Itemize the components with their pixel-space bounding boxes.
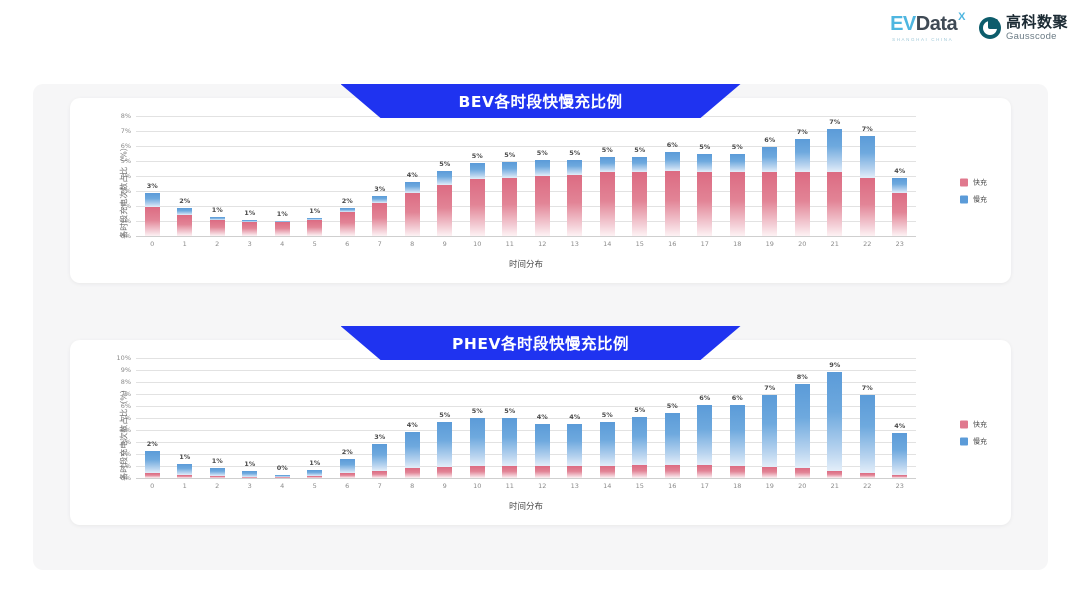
bar-segment-slow-charge — [372, 196, 387, 204]
bar-value-label: 6% — [732, 394, 743, 402]
bar-value-label: 4% — [407, 171, 418, 179]
bar-segment-fast-charge — [437, 467, 452, 478]
bar-segment-slow-charge — [795, 139, 810, 172]
bar-column[interactable]: 5% — [429, 358, 462, 478]
bar-stack — [860, 358, 875, 478]
bar-stack — [372, 116, 387, 236]
legend-swatch-icon — [960, 178, 968, 186]
x-axis-tick: 18 — [721, 240, 754, 248]
bar-segment-slow-charge — [892, 433, 907, 475]
bar-column[interactable]: 4% — [526, 358, 559, 478]
bar-value-label: 6% — [667, 141, 678, 149]
legend-label: 慢充 — [973, 194, 987, 204]
bar-column[interactable]: 6% — [656, 116, 689, 236]
chart-card-phev: 各时段充电次数占比（%） 0%1%2%3%4%5%6%7%8%9%10% 2%1… — [70, 340, 1011, 525]
bar-segment-slow-charge — [860, 136, 875, 178]
bar-segment-fast-charge — [632, 172, 647, 237]
bar-value-label: 9% — [829, 361, 840, 369]
bar-value-label: 5% — [504, 407, 515, 415]
bar-segment-fast-charge — [600, 466, 615, 478]
bar-value-label: 2% — [147, 440, 158, 448]
bar-segment-slow-charge — [600, 157, 615, 172]
bar-segment-slow-charge — [405, 182, 420, 193]
bar-value-label: 1% — [179, 453, 190, 461]
bar-column[interactable]: 7% — [754, 358, 787, 478]
bar-column[interactable]: 4% — [396, 116, 429, 236]
bar-stack — [177, 116, 192, 236]
bar-column[interactable]: 1% — [201, 116, 234, 236]
x-axis-tick: 4 — [266, 482, 299, 490]
bar-stack — [275, 116, 290, 236]
x-axis-tick: 21 — [819, 482, 852, 490]
x-axis-tick: 20 — [786, 240, 819, 248]
bar-segment-fast-charge — [502, 466, 517, 478]
bar-segment-slow-charge — [145, 451, 160, 473]
bar-column[interactable]: 6% — [721, 358, 754, 478]
bar-value-label: 8% — [797, 373, 808, 381]
bar-stack — [827, 116, 842, 236]
bar-group-phev: 2%1%1%1%0%1%2%3%4%5%5%5%4%4%5%5%5%6%6%7%… — [136, 358, 916, 478]
bar-stack — [145, 358, 160, 478]
bar-value-label: 4% — [537, 413, 548, 421]
bar-stack — [145, 116, 160, 236]
bar-value-label: 5% — [732, 143, 743, 151]
bar-stack — [470, 116, 485, 236]
bar-stack — [242, 116, 257, 236]
bar-column[interactable]: 6% — [689, 358, 722, 478]
bar-group-bev: 3%2%1%1%1%1%2%3%4%5%5%5%5%5%5%5%6%5%5%6%… — [136, 116, 916, 236]
bar-segment-slow-charge — [145, 193, 160, 207]
bar-value-label: 5% — [667, 402, 678, 410]
bar-segment-slow-charge — [892, 178, 907, 194]
gausscode-chinese-name: 高科数聚 — [1006, 15, 1068, 30]
x-axis-tick: 21 — [819, 240, 852, 248]
legend-item[interactable]: 快充 — [960, 419, 987, 429]
bar-value-label: 0% — [277, 464, 288, 472]
bar-column[interactable]: 7% — [819, 116, 852, 236]
y-axis-tick: 8% — [121, 378, 131, 386]
legend-label: 快充 — [973, 177, 987, 187]
bar-segment-fast-charge — [632, 465, 647, 478]
bar-column[interactable]: 0% — [266, 358, 299, 478]
chart-block-phev: PHEV各时段快慢充比例 各时段充电次数占比（%） 0%1%2%3%4%5%6%… — [33, 326, 1048, 360]
legend-item[interactable]: 慢充 — [960, 194, 987, 204]
x-axis-tick: 15 — [624, 240, 657, 248]
bar-value-label: 3% — [374, 433, 385, 441]
bar-segment-fast-charge — [762, 172, 777, 237]
x-axis-tick: 22 — [851, 482, 884, 490]
bar-column[interactable]: 4% — [884, 116, 917, 236]
bar-column[interactable]: 1% — [234, 116, 267, 236]
bar-segment-fast-charge — [762, 467, 777, 478]
bar-value-label: 7% — [764, 384, 775, 392]
y-axis-tick: 7% — [121, 127, 131, 135]
bar-column[interactable]: 3% — [364, 358, 397, 478]
bar-segment-slow-charge — [535, 160, 550, 176]
chart-block-bev: BEV各时段快慢充比例 各时段充电次数占比（%） 0%1%2%3%4%5%6%7… — [33, 84, 1048, 118]
gausscode-english-name: Gausscode — [1006, 32, 1068, 42]
x-axis-tick: 6 — [331, 482, 364, 490]
bar-value-label: 2% — [179, 197, 190, 205]
bar-segment-fast-charge — [340, 212, 355, 236]
bar-segment-slow-charge — [470, 418, 485, 466]
y-axis-tick: 8% — [121, 112, 131, 120]
x-axis-tick: 13 — [559, 482, 592, 490]
bar-stack — [892, 358, 907, 478]
bar-column[interactable]: 4% — [559, 358, 592, 478]
bar-column[interactable]: 7% — [786, 116, 819, 236]
bar-value-label: 4% — [569, 413, 580, 421]
bar-column[interactable]: 5% — [494, 358, 527, 478]
y-axis-tick: 6% — [121, 142, 131, 150]
bar-segment-fast-charge — [177, 215, 192, 236]
x-axis-tick: 10 — [461, 240, 494, 248]
x-axis-tick: 1 — [169, 240, 202, 248]
bar-value-label: 7% — [797, 128, 808, 136]
bar-segment-fast-charge — [827, 471, 842, 478]
bar-segment-slow-charge — [502, 162, 517, 179]
bar-value-label: 5% — [472, 407, 483, 415]
bar-stack — [697, 358, 712, 478]
bar-segment-fast-charge — [860, 178, 875, 237]
gausscode-wordmark: 高科数聚 Gausscode — [1006, 15, 1068, 42]
bar-segment-slow-charge — [632, 157, 647, 172]
evdata-logo-ev-text: EV — [890, 14, 916, 34]
bar-segment-slow-charge — [437, 171, 452, 185]
bar-column[interactable]: 9% — [819, 358, 852, 478]
bar-stack — [827, 358, 842, 478]
bar-stack — [502, 358, 517, 478]
bar-column[interactable]: 1% — [266, 116, 299, 236]
bar-stack — [567, 116, 582, 236]
bar-stack — [665, 116, 680, 236]
bar-segment-fast-charge — [535, 466, 550, 478]
x-axis-tick: 16 — [656, 240, 689, 248]
y-axis-tick: 4% — [121, 426, 131, 434]
x-axis-tick: 18 — [721, 482, 754, 490]
x-axis-tick: 7 — [364, 482, 397, 490]
bar-segment-slow-charge — [502, 418, 517, 466]
bar-stack — [632, 116, 647, 236]
bar-value-label: 5% — [634, 146, 645, 154]
x-axis-tick: 17 — [689, 482, 722, 490]
bar-column[interactable]: 1% — [169, 358, 202, 478]
bar-column[interactable]: 2% — [136, 358, 169, 478]
bar-segment-fast-charge — [275, 477, 290, 478]
bar-segment-slow-charge — [697, 405, 712, 465]
x-axis-tick: 14 — [591, 482, 624, 490]
bar-column[interactable]: 5% — [689, 116, 722, 236]
bar-column[interactable]: 5% — [461, 116, 494, 236]
bar-segment-slow-charge — [632, 417, 647, 465]
bar-column[interactable]: 2% — [331, 116, 364, 236]
evdata-logo-wordmark: EVDataX — [890, 14, 965, 34]
bar-stack — [762, 358, 777, 478]
bar-segment-fast-charge — [470, 179, 485, 236]
bar-stack — [632, 358, 647, 478]
bar-column[interactable]: 4% — [884, 358, 917, 478]
bar-segment-fast-charge — [892, 193, 907, 236]
x-axis-tick: 17 — [689, 240, 722, 248]
bar-column[interactable]: 1% — [299, 116, 332, 236]
bar-segment-fast-charge — [242, 477, 257, 478]
bar-column[interactable]: 5% — [559, 116, 592, 236]
bar-column[interactable]: 5% — [526, 116, 559, 236]
y-axis-tick: 3% — [121, 187, 131, 195]
x-axis-tick: 9 — [429, 240, 462, 248]
x-axis-tick: 14 — [591, 240, 624, 248]
bar-column[interactable]: 5% — [656, 358, 689, 478]
bar-segment-fast-charge — [697, 172, 712, 237]
x-axis-tick: 19 — [754, 240, 787, 248]
bar-value-label: 2% — [342, 197, 353, 205]
bar-column[interactable]: 7% — [851, 116, 884, 236]
bar-segment-slow-charge — [730, 154, 745, 171]
bar-segment-fast-charge — [145, 473, 160, 478]
x-axis-tick: 2 — [201, 482, 234, 490]
x-axis-tick: 12 — [526, 482, 559, 490]
bar-value-label: 6% — [699, 394, 710, 402]
bar-value-label: 5% — [569, 149, 580, 157]
bar-segment-fast-charge — [307, 476, 322, 478]
bar-segment-fast-charge — [860, 473, 875, 478]
legend-label: 快充 — [973, 419, 987, 429]
bar-segment-fast-charge — [275, 222, 290, 236]
bar-value-label: 3% — [374, 185, 385, 193]
x-axis-tick: 4 — [266, 240, 299, 248]
bar-value-label: 5% — [602, 411, 613, 419]
bar-column[interactable]: 5% — [429, 116, 462, 236]
x-axis-tick: 2 — [201, 240, 234, 248]
bar-value-label: 1% — [212, 206, 223, 214]
evdata-logo: EVDataX shanghai china — [890, 14, 965, 42]
x-axis-ticks-bev: 01234567891011121314151617181920212223 — [136, 240, 916, 248]
y-axis-tick: 1% — [121, 217, 131, 225]
bar-segment-fast-charge — [405, 193, 420, 237]
bar-column[interactable]: 2% — [169, 116, 202, 236]
x-axis-tick: 16 — [656, 482, 689, 490]
bar-segment-fast-charge — [567, 466, 582, 478]
bar-segment-fast-charge — [697, 465, 712, 478]
bar-value-label: 5% — [602, 146, 613, 154]
bar-segment-fast-charge — [535, 176, 550, 236]
bar-segment-slow-charge — [827, 129, 842, 173]
bar-value-label: 4% — [407, 421, 418, 429]
bar-segment-slow-charge — [567, 424, 582, 466]
bar-segment-fast-charge — [600, 172, 615, 237]
bar-value-label: 5% — [537, 149, 548, 157]
bar-column[interactable]: 6% — [754, 116, 787, 236]
bar-value-label: 5% — [699, 143, 710, 151]
x-axis-tick: 23 — [884, 482, 917, 490]
bar-value-label: 7% — [829, 118, 840, 126]
bar-segment-fast-charge — [145, 207, 160, 236]
bar-column[interactable]: 1% — [299, 358, 332, 478]
x-axis-tick: 23 — [884, 240, 917, 248]
bar-value-label: 1% — [309, 459, 320, 467]
bar-value-label: 5% — [439, 411, 450, 419]
x-axis-tick: 20 — [786, 482, 819, 490]
x-axis-tick: 3 — [234, 482, 267, 490]
bar-segment-slow-charge — [665, 152, 680, 171]
bar-value-label: 5% — [504, 151, 515, 159]
bar-column[interactable]: 7% — [851, 358, 884, 478]
bar-column[interactable]: 4% — [396, 358, 429, 478]
bar-value-label: 5% — [634, 406, 645, 414]
bar-value-label: 2% — [342, 448, 353, 456]
x-axis-tick: 9 — [429, 482, 462, 490]
bar-segment-slow-charge — [340, 459, 355, 472]
bar-column[interactable]: 5% — [591, 116, 624, 236]
bar-segment-slow-charge — [567, 160, 582, 176]
x-axis-tick: 5 — [299, 482, 332, 490]
bar-stack — [340, 358, 355, 478]
bar-value-label: 6% — [764, 136, 775, 144]
bar-segment-fast-charge — [567, 175, 582, 236]
y-axis-tick: 0% — [121, 474, 131, 482]
bar-value-label: 5% — [472, 152, 483, 160]
bar-stack — [535, 116, 550, 236]
bar-segment-fast-charge — [730, 172, 745, 237]
bar-column[interactable]: 5% — [624, 358, 657, 478]
bar-value-label: 7% — [862, 384, 873, 392]
y-axis-tick: 9% — [121, 366, 131, 374]
x-axis-ticks-phev: 01234567891011121314151617181920212223 — [136, 482, 916, 490]
legend-label: 慢充 — [973, 436, 987, 446]
bar-segment-fast-charge — [177, 475, 192, 478]
x-axis-tick: 8 — [396, 482, 429, 490]
gausscode-logo: 高科数聚 Gausscode — [979, 15, 1068, 42]
bar-column[interactable]: 1% — [234, 358, 267, 478]
y-axis-tick: 5% — [121, 414, 131, 422]
bar-segment-slow-charge — [665, 413, 680, 466]
bar-value-label: 4% — [894, 167, 905, 175]
bar-segment-slow-charge — [372, 444, 387, 470]
bar-value-label: 5% — [439, 160, 450, 168]
bar-segment-fast-charge — [210, 220, 225, 237]
bar-segment-fast-charge — [827, 172, 842, 236]
bar-stack — [697, 116, 712, 236]
bar-stack — [665, 358, 680, 478]
y-axis-tick: 5% — [121, 157, 131, 165]
x-axis-tick: 3 — [234, 240, 267, 248]
bar-column[interactable]: 5% — [494, 116, 527, 236]
bar-value-label: 1% — [244, 460, 255, 468]
bar-stack — [405, 358, 420, 478]
bar-segment-fast-charge — [795, 172, 810, 237]
y-axis-tick: 6% — [121, 402, 131, 410]
y-axis-tick: 3% — [121, 438, 131, 446]
x-axis-tick: 5 — [299, 240, 332, 248]
bar-segment-fast-charge — [730, 466, 745, 478]
bar-stack — [307, 116, 322, 236]
bar-segment-fast-charge — [665, 171, 680, 236]
evdata-logo-tagline: shanghai china — [892, 37, 953, 42]
bar-segment-slow-charge — [437, 422, 452, 467]
header-logos: EVDataX shanghai china 高科数聚 Gausscode — [890, 14, 1068, 42]
bar-segment-slow-charge — [730, 405, 745, 466]
x-axis-tick: 11 — [494, 482, 527, 490]
bar-segment-slow-charge — [535, 424, 550, 466]
evdata-logo-x-mark: X — [958, 12, 965, 23]
bar-segment-slow-charge — [177, 464, 192, 475]
plot-area-phev: 各时段充电次数占比（%） 0%1%2%3%4%5%6%7%8%9%10% 2%1… — [70, 340, 1011, 525]
grid-line — [136, 236, 916, 237]
bar-stack — [275, 358, 290, 478]
legend-bev: 快充慢充 — [960, 177, 987, 204]
chart-card-bev: 各时段充电次数占比（%） 0%1%2%3%4%5%6%7%8% 3%2%1%1%… — [70, 98, 1011, 283]
bar-segment-slow-charge — [795, 384, 810, 468]
bar-column[interactable]: 3% — [364, 116, 397, 236]
bar-column[interactable]: 8% — [786, 358, 819, 478]
bar-stack — [762, 116, 777, 236]
bar-segment-slow-charge — [762, 395, 777, 467]
y-axis-tick: 0% — [121, 232, 131, 240]
x-axis-tick: 8 — [396, 240, 429, 248]
bar-column[interactable]: 5% — [624, 116, 657, 236]
bar-stack — [860, 116, 875, 236]
bar-segment-fast-charge — [242, 222, 257, 236]
chart-title-phev: PHEV各时段快慢充比例 — [452, 332, 629, 354]
legend-item[interactable]: 慢充 — [960, 436, 987, 446]
gausscode-mark-icon — [979, 17, 1001, 39]
y-axis-tick: 7% — [121, 390, 131, 398]
bar-column[interactable]: 5% — [461, 358, 494, 478]
plot-area-bev: 各时段充电次数占比（%） 0%1%2%3%4%5%6%7%8% 3%2%1%1%… — [70, 98, 1011, 283]
legend-item[interactable]: 快充 — [960, 177, 987, 187]
bar-stack — [730, 116, 745, 236]
x-axis-tick: 11 — [494, 240, 527, 248]
x-axis-tick: 1 — [169, 482, 202, 490]
y-axis-tick: 10% — [117, 354, 131, 362]
bar-segment-fast-charge — [665, 465, 680, 478]
bar-column[interactable]: 5% — [721, 116, 754, 236]
bar-segment-fast-charge — [795, 468, 810, 478]
bar-segment-slow-charge — [177, 208, 192, 215]
bar-value-label: 1% — [277, 210, 288, 218]
x-axis-label-bev: 时间分布 — [136, 258, 916, 270]
grid-line — [136, 478, 916, 479]
bar-column[interactable]: 3% — [136, 116, 169, 236]
bar-column[interactable]: 2% — [331, 358, 364, 478]
x-axis-tick: 0 — [136, 240, 169, 248]
bar-value-label: 4% — [894, 422, 905, 430]
bar-stack — [210, 116, 225, 236]
bar-segment-fast-charge — [405, 468, 420, 478]
bar-stack — [502, 116, 517, 236]
bar-segment-slow-charge — [600, 422, 615, 466]
bar-segment-slow-charge — [405, 432, 420, 468]
bar-stack — [470, 358, 485, 478]
legend-swatch-icon — [960, 195, 968, 203]
chart-banner-bev: BEV各时段快慢充比例 — [341, 84, 741, 118]
bar-column[interactable]: 5% — [591, 358, 624, 478]
bar-segment-fast-charge — [340, 473, 355, 478]
bar-segment-slow-charge — [697, 154, 712, 171]
bar-column[interactable]: 1% — [201, 358, 234, 478]
bar-segment-fast-charge — [470, 466, 485, 478]
chart-banner-phev: PHEV各时段快慢充比例 — [341, 326, 741, 360]
content-panel: BEV各时段快慢充比例 各时段充电次数占比（%） 0%1%2%3%4%5%6%7… — [33, 84, 1048, 570]
bar-segment-fast-charge — [372, 203, 387, 236]
y-axis-tick: 2% — [121, 450, 131, 458]
bar-stack — [437, 116, 452, 236]
bar-stack — [372, 358, 387, 478]
bar-segment-slow-charge — [827, 372, 842, 470]
legend-swatch-icon — [960, 420, 968, 428]
chart-title-bev: BEV各时段快慢充比例 — [459, 90, 623, 112]
x-axis-tick: 13 — [559, 240, 592, 248]
